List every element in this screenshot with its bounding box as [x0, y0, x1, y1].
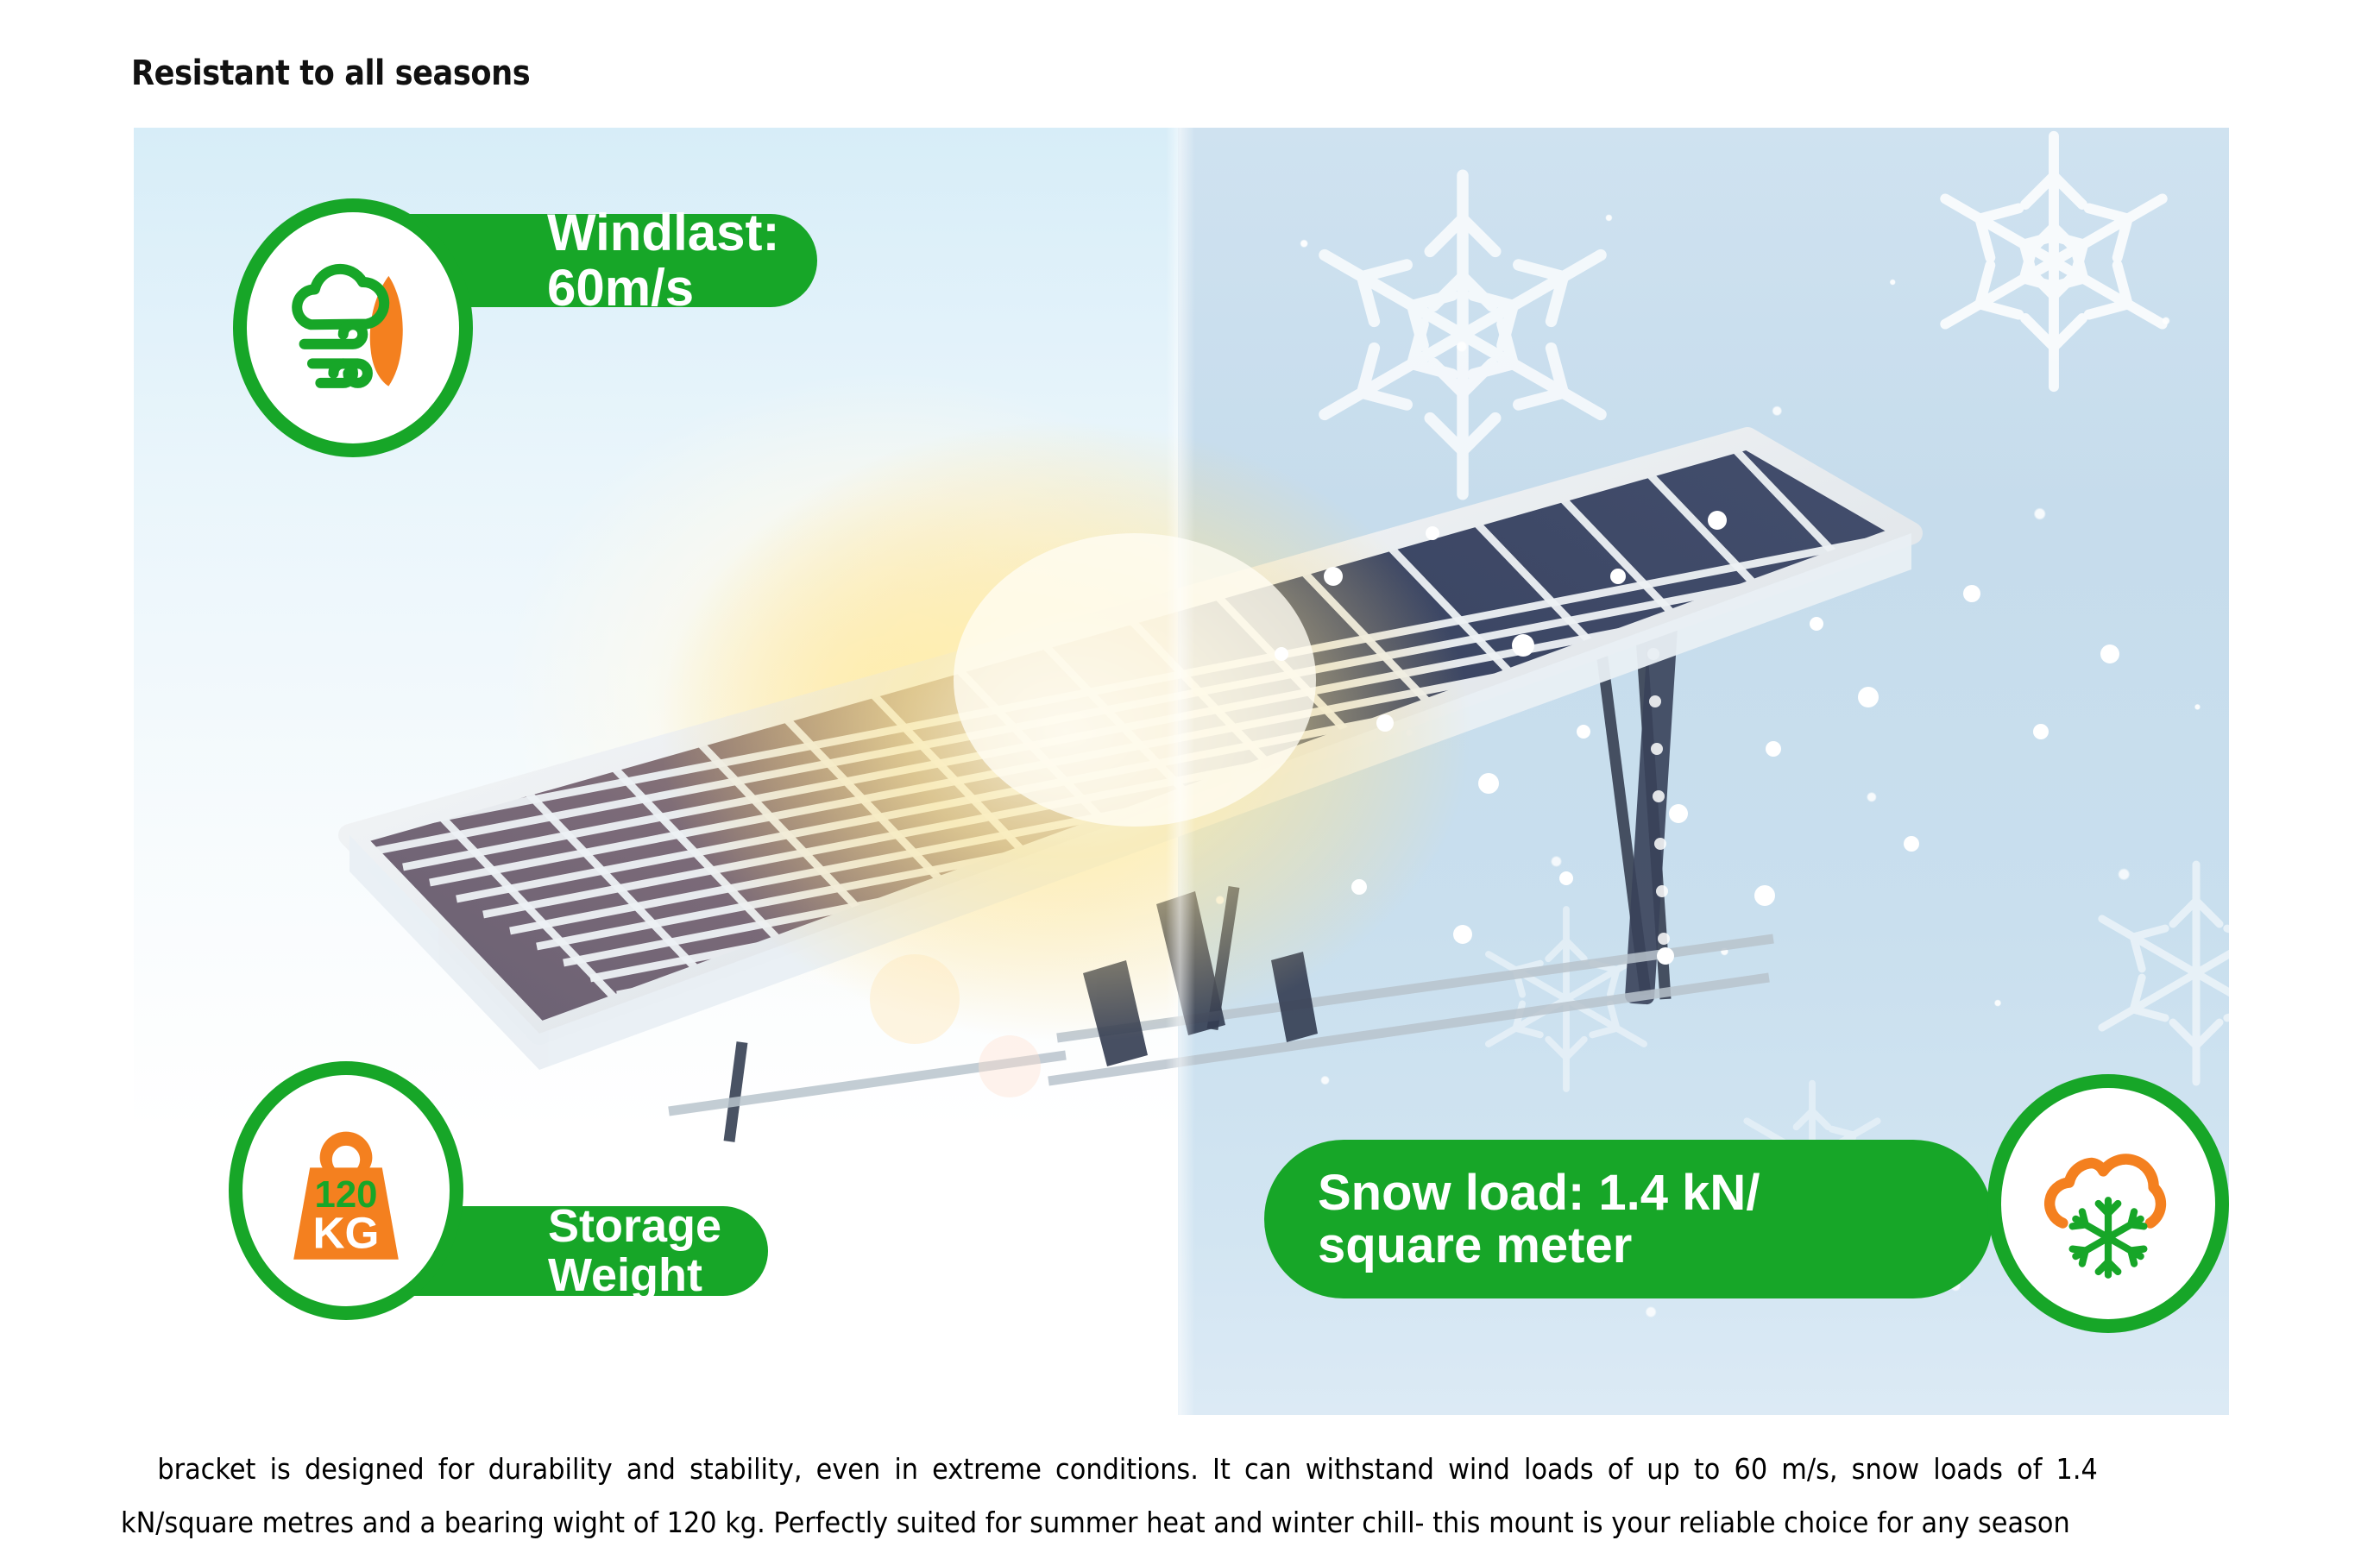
description-paragraph: bracket is designed for durability and s…: [121, 1443, 2098, 1550]
product-feature-panel: Resistant to all seasons: [0, 0, 2380, 1553]
wind-load-label: Windlast: 60m/s: [547, 205, 779, 315]
svg-text:KG: KG: [313, 1209, 380, 1258]
snow-load-label: Snow load: 1.4 kN/ square meter: [1318, 1166, 1760, 1273]
weight-icon-disc: 120 KG: [229, 1061, 463, 1320]
snow-cloud-icon: [2027, 1122, 2189, 1285]
wind-cloud-icon: [272, 247, 434, 409]
storage-weight-badge[interactable]: Storage Weight 120 KG: [229, 1061, 463, 1320]
snow-load-badge[interactable]: Snow load: 1.4 kN/ square meter: [1264, 1074, 2229, 1333]
storage-weight-label: Storage Weight: [548, 1202, 721, 1300]
weight-120kg-icon: 120 KG: [264, 1109, 428, 1273]
wind-icon-disc: [233, 198, 473, 457]
page-title: Resistant to all seasons: [131, 53, 530, 93]
description-text: bracket is designed for durability and s…: [121, 1452, 2098, 1539]
snow-load-pill: Snow load: 1.4 kN/ square meter: [1264, 1140, 1993, 1298]
snow-icon-disc: [1987, 1074, 2229, 1333]
wind-load-badge[interactable]: Windlast: 60m/s: [233, 198, 473, 457]
